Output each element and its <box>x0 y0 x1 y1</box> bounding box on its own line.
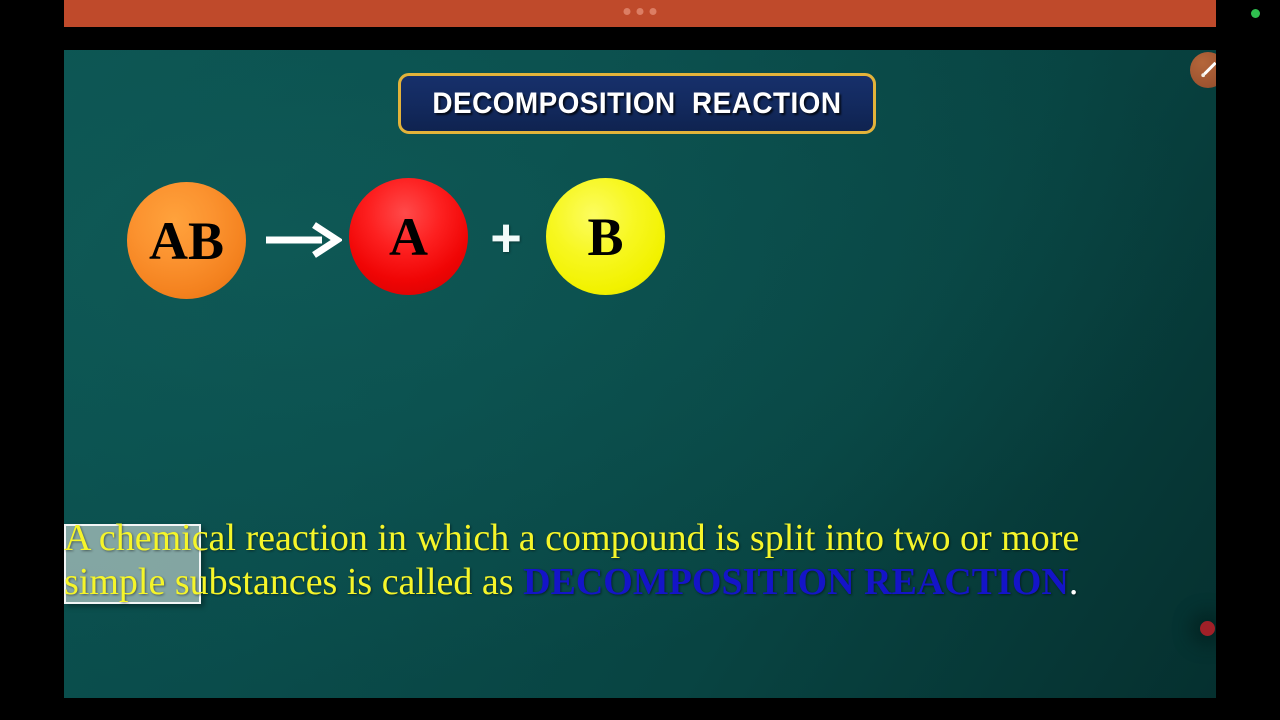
top-app-bar <box>64 0 1216 27</box>
slide-canvas: DECOMPOSITION REACTION AB A + B A chemic… <box>64 50 1216 698</box>
caption-line-2: simple substances is called as DECOMPOSI… <box>64 560 1216 604</box>
dot <box>637 8 644 15</box>
dot <box>650 8 657 15</box>
caption-period: . <box>1069 561 1079 603</box>
screen: DECOMPOSITION REACTION AB A + B A chemic… <box>0 0 1280 720</box>
dot <box>624 8 631 15</box>
reactant-sphere-ab: AB <box>127 182 246 299</box>
caption-emphasis: DECOMPOSITION REACTION <box>523 561 1069 603</box>
status-indicator-dot <box>1251 9 1260 18</box>
right-arrow-icon <box>264 220 342 260</box>
product-label: B <box>587 206 623 268</box>
caption-line-2-prefix: simple substances is called as <box>64 561 523 603</box>
product-sphere-b: B <box>546 178 665 295</box>
annotation-dot <box>1200 621 1215 636</box>
reactant-label: AB <box>149 210 224 272</box>
caption-line-1: A chemical reaction in which a compound … <box>64 516 1216 560</box>
product-label: A <box>389 206 428 268</box>
three-dots-icon[interactable] <box>624 8 657 15</box>
plus-symbol: + <box>484 207 528 269</box>
product-sphere-a: A <box>349 178 468 295</box>
caption-text: A chemical reaction in which a compound … <box>64 516 1216 604</box>
